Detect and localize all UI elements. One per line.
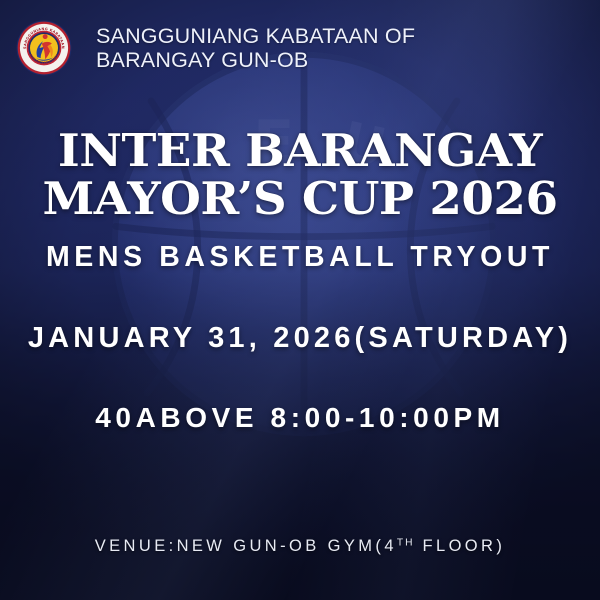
- venue-suffix: FLOOR): [415, 537, 506, 555]
- event-subtitle: MENS BASKETBALL TRYOUT: [0, 241, 600, 274]
- event-date: JANUARY 31, 2026(SATURDAY): [0, 322, 600, 355]
- event-poster: E U: [0, 0, 600, 600]
- event-title: INTER BARANGAY MAYOR’S CUP 2026: [0, 128, 600, 221]
- event-title-line-1: INTER BARANGAY: [0, 128, 600, 173]
- org-line-1: SANGGUNIANG KABATAAN OF: [96, 24, 415, 48]
- event-venue: VENUE:NEW GUN-OB GYM(4TH FLOOR): [0, 537, 600, 556]
- organization-name: SANGGUNIANG KABATAAN OF BARANGAY GUN-OB: [96, 24, 415, 72]
- event-title-line-2: MAYOR’S CUP 2026: [0, 176, 600, 221]
- venue-prefix: VENUE:NEW GUN-OB GYM(4: [95, 537, 397, 555]
- sangguniang-kabataan-seal-icon: SANGGUNIANG KABATAAN GUN-OB LAPU-LAPU: [16, 20, 72, 76]
- venue-ordinal: TH: [397, 538, 415, 549]
- org-line-2: BARANGAY GUN-OB: [96, 48, 415, 72]
- poster-header: SANGGUNIANG KABATAAN GUN-OB LAPU-LAPU SA…: [0, 20, 600, 76]
- event-category-time: 40ABOVE 8:00-10:00PM: [0, 402, 600, 434]
